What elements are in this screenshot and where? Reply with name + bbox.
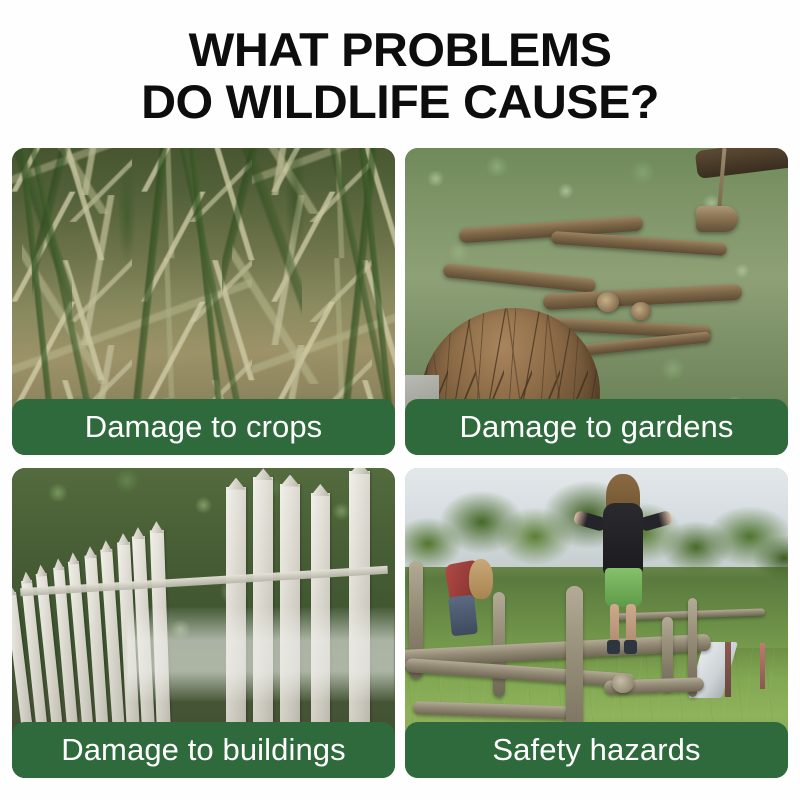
caption-label-crops: Damage to crops	[85, 410, 323, 444]
playground-child-balancing	[585, 474, 662, 654]
caption-label-buildings: Damage to buildings	[61, 733, 346, 767]
caption-bar-hazards: Safety hazards	[405, 722, 788, 778]
problem-card-crops[interactable]: Damage to crops	[12, 148, 395, 455]
title-line-2: DO WILDLIFE CAUSE?	[0, 76, 800, 128]
problem-card-hazards[interactable]: Safety hazards	[405, 468, 788, 778]
problem-card-grid: Damage to crops Damage to gardens	[12, 148, 788, 778]
title-line-1: WHAT PROBLEMS	[0, 24, 800, 76]
infographic-poster: WHAT PROBLEMS DO WILDLIFE CAUSE? Damage …	[0, 0, 800, 800]
page-title: WHAT PROBLEMS DO WILDLIFE CAUSE?	[0, 24, 800, 128]
playground-child-climbing	[447, 555, 501, 648]
caption-label-hazards: Safety hazards	[492, 733, 700, 767]
caption-bar-buildings: Damage to buildings	[12, 722, 395, 778]
fence-blur-overlay	[127, 608, 395, 701]
caption-bar-crops: Damage to crops	[12, 399, 395, 455]
caption-bar-gardens: Damage to gardens	[405, 399, 788, 455]
problem-card-gardens[interactable]: Damage to gardens	[405, 148, 788, 455]
caption-label-gardens: Damage to gardens	[460, 410, 734, 444]
problem-card-buildings[interactable]: Damage to buildings	[12, 468, 395, 778]
